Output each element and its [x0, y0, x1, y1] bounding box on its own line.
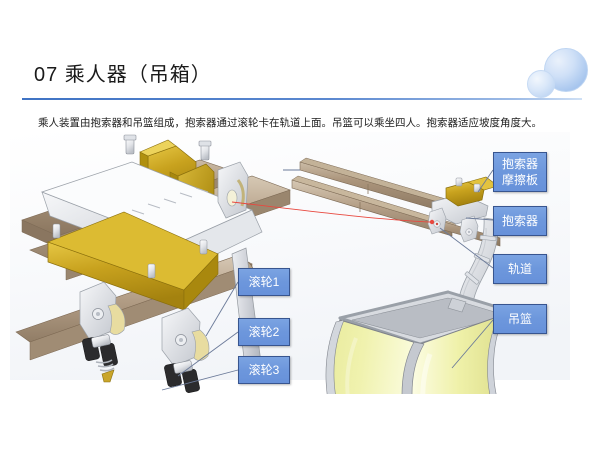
- subtitle-description: 乘人装置由抱索器和吊篮组成，抱索器通过滚轮卡在轨道上面。吊篮可以乘坐四人。抱索器…: [38, 116, 583, 130]
- callout-roller-3[interactable]: 滚轮3: [238, 356, 290, 384]
- callout-friction-plate-line2: 摩擦板: [502, 172, 538, 188]
- callout-roller-1[interactable]: 滚轮1: [238, 268, 290, 296]
- callout-rail[interactable]: 轨道: [493, 254, 547, 284]
- callout-friction-plate-line1: 抱索器: [502, 156, 538, 172]
- callout-roller-2[interactable]: 滚轮2: [238, 318, 290, 346]
- callout-cabin[interactable]: 吊篮: [493, 304, 547, 334]
- circle-decoration-small-icon: [527, 70, 555, 98]
- callout-grip[interactable]: 抱索器: [493, 206, 547, 236]
- title-divider: [22, 98, 582, 100]
- slide-canvas: 07 乘人器（吊箱） 乘人装置由抱索器和吊篮组成，抱索器通过滚轮卡在轨道上面。吊…: [0, 0, 600, 450]
- page-title: 07 乘人器（吊箱）: [34, 58, 212, 87]
- callout-friction-plate[interactable]: 抱索器 摩擦板: [493, 152, 547, 192]
